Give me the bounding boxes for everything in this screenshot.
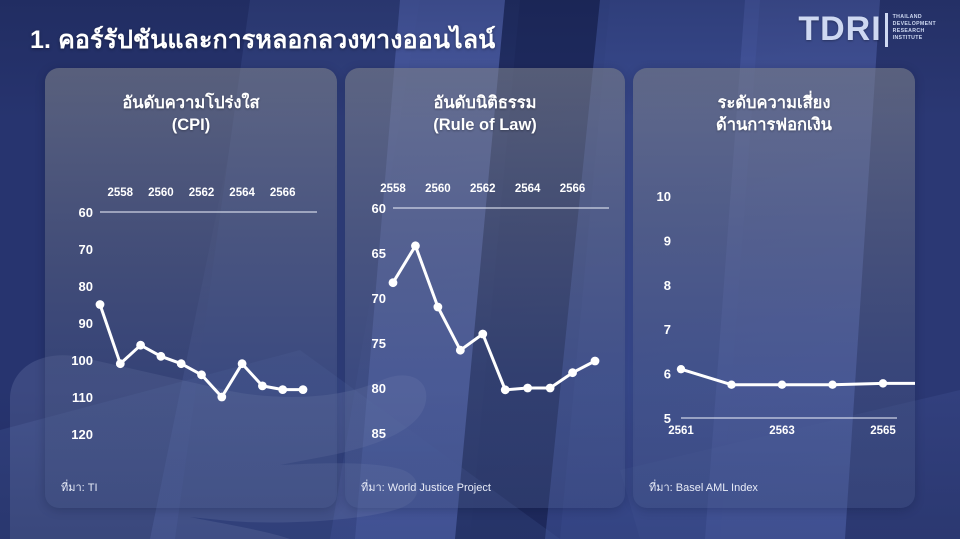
chart-title-aml-risk: ระดับความเสี่ยง ด้านการฟอกเงิน [633,92,915,136]
data-point [197,370,206,379]
y-tick-label: 110 [72,390,93,405]
y-tick-label: 100 [71,353,93,368]
chart-title-cpi-line-2: (CPI) [45,114,337,136]
data-point [411,241,420,250]
data-point [217,393,226,402]
chart-title-cpi-line-1: อันดับความโปร่งใส [122,94,259,112]
x-tick-label: 2566 [560,183,586,195]
x-tick-label: 2558 [108,187,134,199]
y-tick-label: 6 [664,367,671,382]
data-point [136,341,145,350]
data-point [523,384,532,393]
chart-title-rule-of-law-line-2: (Rule of Law) [345,114,625,136]
y-tick-label: 80 [372,381,386,396]
y-tick-label: 65 [372,246,386,261]
chart-panel-cpi: อันดับความโปร่งใส (CPI) 6070809010011012… [45,68,337,508]
y-tick-label: 120 [71,427,93,442]
y-tick-label: 8 [664,278,671,293]
y-tick-label: 9 [664,233,671,248]
chart-title-rule-of-law-line-1: อันดับนิติธรรม [433,94,536,112]
data-point [546,384,555,393]
y-tick-label: 90 [79,316,93,331]
chart-title-cpi: อันดับความโปร่งใส (CPI) [45,92,337,136]
y-tick-label: 75 [372,336,386,351]
chart-panels: อันดับความโปร่งใส (CPI) 6070809010011012… [0,0,960,539]
data-point [157,352,166,361]
data-point [299,385,308,394]
data-point [258,382,267,391]
series-line [393,246,595,390]
series-line [100,305,303,398]
data-point [677,365,685,373]
data-point [278,385,287,394]
x-tick-label: 2564 [515,183,541,195]
chart-title-rule-of-law: อันดับนิติธรรม (Rule of Law) [345,92,625,136]
x-tick-label: 2558 [380,183,406,195]
y-tick-label: 70 [79,242,93,257]
data-point [433,303,442,312]
chart-source-rule-of-law: ที่มา: World Justice Project [361,478,491,496]
data-point [177,359,186,368]
data-point [478,330,487,339]
chart-title-aml-risk-line-1: ระดับความเสี่ยง [718,94,831,112]
x-tick-label: 2561 [668,425,694,437]
data-point [591,357,600,366]
x-tick-label: 2560 [148,187,174,199]
data-point [727,381,735,389]
y-tick-label: 5 [664,411,671,426]
data-point [778,381,786,389]
x-tick-label: 2562 [189,187,215,199]
data-point [96,300,105,309]
slide-canvas: 1. คอร์รัปชันและการหลอกลวงทางออนไลน์ TDR… [0,0,960,539]
x-tick-label: 2564 [229,187,255,199]
data-point [501,385,510,394]
y-tick-label: 60 [79,205,93,220]
data-point [389,278,398,287]
data-point [238,359,247,368]
chart-title-aml-risk-line-2: ด้านการฟอกเงิน [633,114,915,136]
data-point [828,381,836,389]
x-tick-label: 2560 [425,183,451,195]
y-tick-label: 7 [664,322,671,337]
x-tick-label: 2566 [270,187,296,199]
y-tick-label: 70 [372,291,386,306]
x-tick-label: 2563 [769,425,795,437]
y-tick-label: 85 [372,426,386,441]
y-tick-label: 10 [657,189,671,204]
data-point [116,359,125,368]
chart-source-cpi: ที่มา: TI [61,478,98,496]
chart-source-aml-risk: ที่มา: Basel AML Index [649,478,758,496]
data-point [568,368,577,377]
chart-panel-aml-risk: ระดับความเสี่ยง ด้านการฟอกเงิน 109876525… [633,68,915,508]
data-point [879,379,887,387]
y-tick-label: 60 [372,201,386,216]
series-line [681,369,915,385]
y-tick-label: 80 [79,279,93,294]
chart-panel-rule-of-law: อันดับนิติธรรม (Rule of Law) 60657075808… [345,68,625,508]
data-point [456,346,465,355]
x-tick-label: 2562 [470,183,496,195]
x-tick-label: 2565 [870,425,896,437]
